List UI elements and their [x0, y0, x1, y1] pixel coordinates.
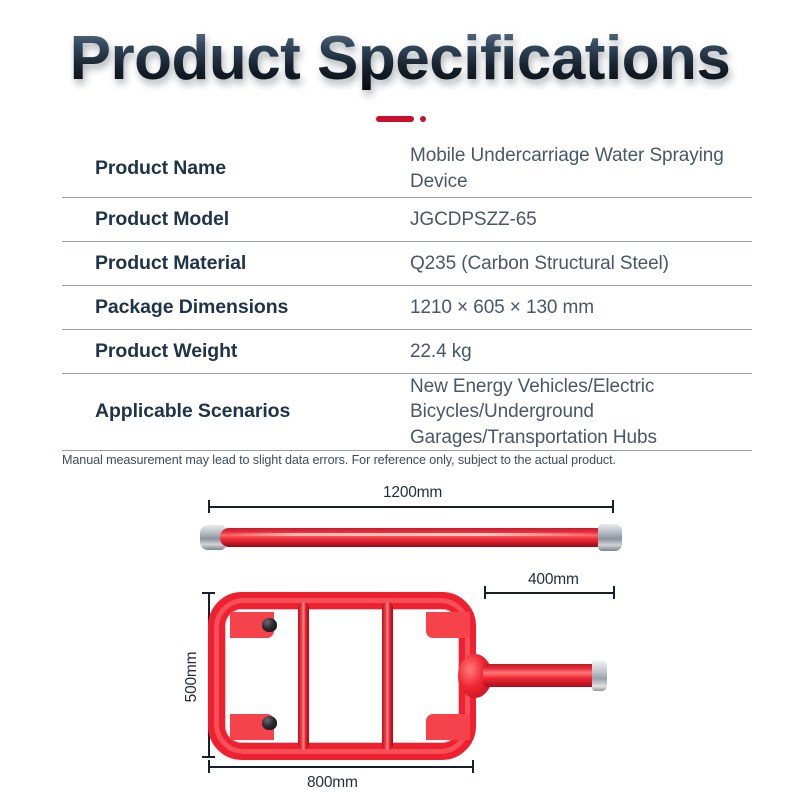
nozzle-fitting — [262, 618, 277, 632]
nozzle-fitting — [262, 716, 277, 730]
spec-label: Product Model — [62, 208, 410, 231]
red-spray-pipe — [200, 522, 622, 552]
pipe-body — [220, 528, 605, 547]
dim-label-frame-width: 800mm — [307, 774, 358, 792]
spec-value: 22.4 kg — [410, 339, 752, 364]
pipe-end-cap-right — [598, 524, 622, 551]
dim-line-frame-width — [208, 766, 474, 768]
handle-end-cap — [592, 660, 607, 691]
spec-value: JGCDPSZZ-65 — [410, 207, 752, 232]
mounting-pad — [426, 612, 470, 638]
product-spec-page: Product Specifications Product Name Mobi… — [0, 0, 800, 800]
dim-tick-width-left — [208, 760, 210, 773]
page-header: Product Specifications — [0, 28, 800, 90]
dim-line-pipe-length — [208, 506, 614, 508]
divider-dot — [420, 116, 426, 122]
spec-value: 1210 × 605 × 130 mm — [410, 295, 752, 320]
frame-divider-rib — [298, 602, 309, 750]
dim-label-pipe-length: 1200mm — [383, 484, 442, 502]
red-tubular-frame — [200, 590, 620, 770]
spec-label: Applicable Scenarios — [62, 400, 410, 423]
page-title: Product Specifications — [70, 28, 731, 90]
red-handle-tube — [483, 664, 599, 687]
dim-tick-width-right — [472, 760, 474, 773]
table-row: Package Dimensions 1210 × 605 × 130 mm — [62, 286, 752, 330]
mounting-pad — [426, 714, 470, 740]
title-divider — [0, 112, 800, 126]
spec-label: Package Dimensions — [62, 296, 410, 319]
specification-table: Product Name Mobile Undercarriage Water … — [62, 140, 752, 451]
table-row: Product Weight 22.4 kg — [62, 330, 752, 374]
spec-value: New Energy Vehicles/Electric Bicycles/Un… — [410, 374, 752, 450]
table-row: Applicable Scenarios New Energy Vehicles… — [62, 374, 752, 451]
spec-label: Product Material — [62, 252, 410, 275]
measurement-disclaimer: Manual measurement may lead to slight da… — [62, 453, 762, 467]
table-row: Product Material Q235 (Carbon Structural… — [62, 242, 752, 286]
frame-divider-rib — [382, 602, 393, 750]
table-row: Product Model JGCDPSZZ-65 — [62, 198, 752, 242]
divider-bar — [376, 116, 414, 122]
dim-tick-pipe-right — [612, 500, 614, 513]
product-diagram: 1200mm 400mm 500mm — [0, 478, 800, 800]
spec-label: Product Weight — [62, 340, 410, 363]
pipe-highlight — [230, 533, 595, 536]
spec-value: Mobile Undercarriage Water Spraying Devi… — [410, 143, 752, 194]
spec-label: Product Name — [62, 157, 410, 180]
dim-tick-pipe-left — [208, 500, 210, 513]
dim-label-frame-height: 500mm — [183, 637, 201, 717]
dim-label-handle-length: 400mm — [528, 571, 579, 589]
spec-value: Q235 (Carbon Structural Steel) — [410, 251, 752, 276]
table-row: Product Name Mobile Undercarriage Water … — [62, 140, 752, 198]
